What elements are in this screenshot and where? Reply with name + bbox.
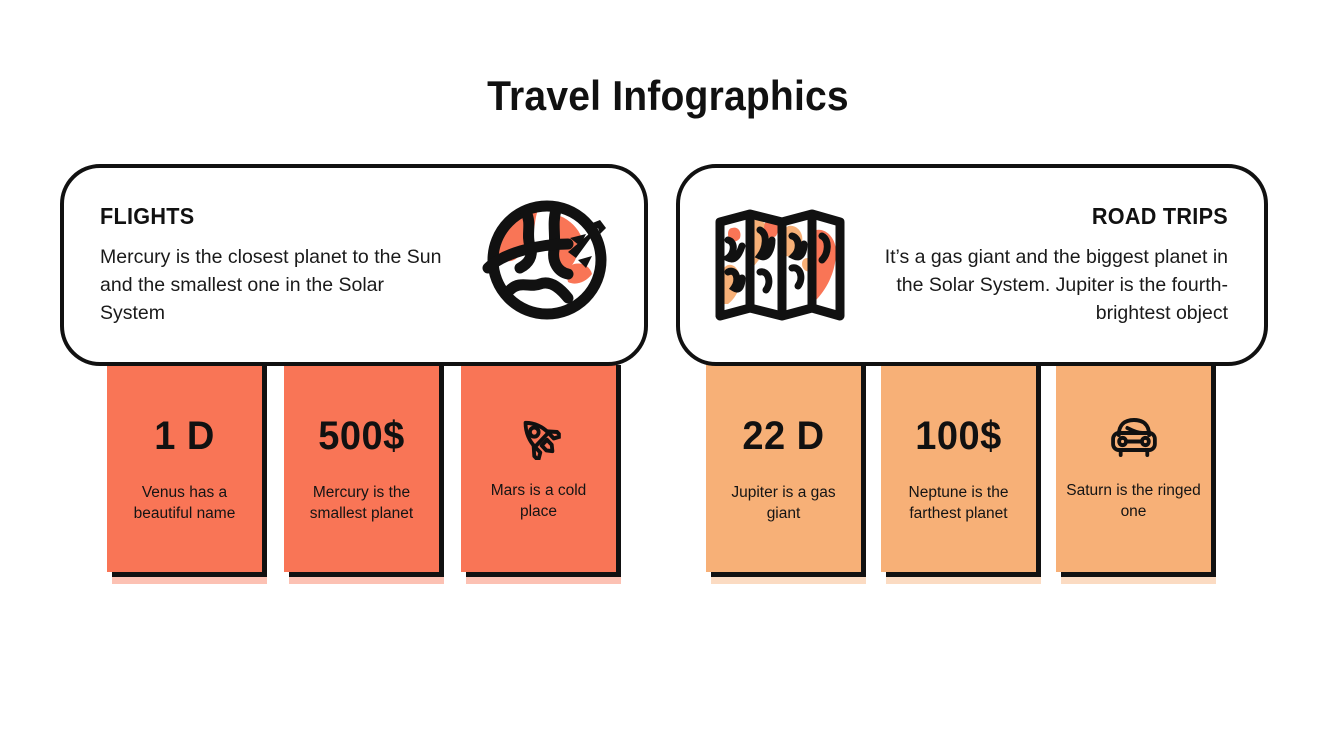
stat-fill: Saturn is the ringed one (1056, 360, 1211, 572)
column-road-trips: ROAD TRIPS It’s a gas giant and the bigg… (676, 164, 1268, 572)
stat-value: 1 D (120, 416, 248, 456)
stat-box[interactable]: Mars is a cold place (461, 360, 616, 572)
stat-fill: 500$ Mercury is the smallest planet (284, 360, 439, 572)
card-flights-body: FLIGHTS Mercury is the closest planet to… (94, 203, 454, 327)
stat-caption: Neptune is the farthest planet (891, 482, 1026, 524)
stat-value: 22 D (719, 416, 847, 456)
stats-flights: 1 D Venus has a beautiful name 500$ Merc… (60, 360, 648, 572)
stats-road-trips: 22 D Jupiter is a gas giant 100$ Neptune… (676, 360, 1268, 572)
card-flights-heading: FLIGHTS (100, 203, 433, 230)
stat-value: 500$ (297, 416, 425, 456)
card-flights-text: Mercury is the closest planet to the Sun… (100, 243, 454, 327)
stat-caption: Mercury is the smallest planet (294, 482, 429, 524)
stat-fill: 22 D Jupiter is a gas giant (706, 360, 861, 572)
stat-fill: 1 D Venus has a beautiful name (107, 360, 262, 572)
stat-fill: 100$ Neptune is the farthest planet (881, 360, 1036, 572)
stat-fill: Mars is a cold place (461, 360, 616, 572)
stat-box[interactable]: 1 D Venus has a beautiful name (107, 360, 262, 572)
stat-box[interactable]: 100$ Neptune is the farthest planet (881, 360, 1036, 572)
stat-caption: Saturn is the ringed one (1066, 480, 1201, 522)
card-flights[interactable]: FLIGHTS Mercury is the closest planet to… (60, 164, 648, 366)
card-road-trips-body: ROAD TRIPS It’s a gas giant and the bigg… (864, 203, 1234, 327)
stat-caption: Jupiter is a gas giant (716, 482, 851, 524)
stat-box[interactable]: Saturn is the ringed one (1056, 360, 1211, 572)
globe-airplane-icon (464, 194, 614, 336)
card-road-trips-text: It’s a gas giant and the biggest planet … (864, 243, 1228, 327)
slide-canvas: Travel Infographics FLIGHTS Mercury is t… (0, 0, 1336, 752)
stat-value: 100$ (894, 416, 1022, 456)
car-icon (1069, 416, 1197, 458)
stat-caption: Venus has a beautiful name (117, 482, 252, 524)
rocket-icon (474, 416, 602, 458)
page-title: Travel Infographics (47, 72, 1289, 120)
column-flights: FLIGHTS Mercury is the closest planet to… (60, 164, 648, 572)
card-road-trips[interactable]: ROAD TRIPS It’s a gas giant and the bigg… (676, 164, 1268, 366)
stat-box[interactable]: 500$ Mercury is the smallest planet (284, 360, 439, 572)
stat-caption: Mars is a cold place (471, 480, 606, 522)
stat-box[interactable]: 22 D Jupiter is a gas giant (706, 360, 861, 572)
card-road-trips-heading: ROAD TRIPS (886, 203, 1228, 230)
folded-map-icon (710, 206, 850, 324)
